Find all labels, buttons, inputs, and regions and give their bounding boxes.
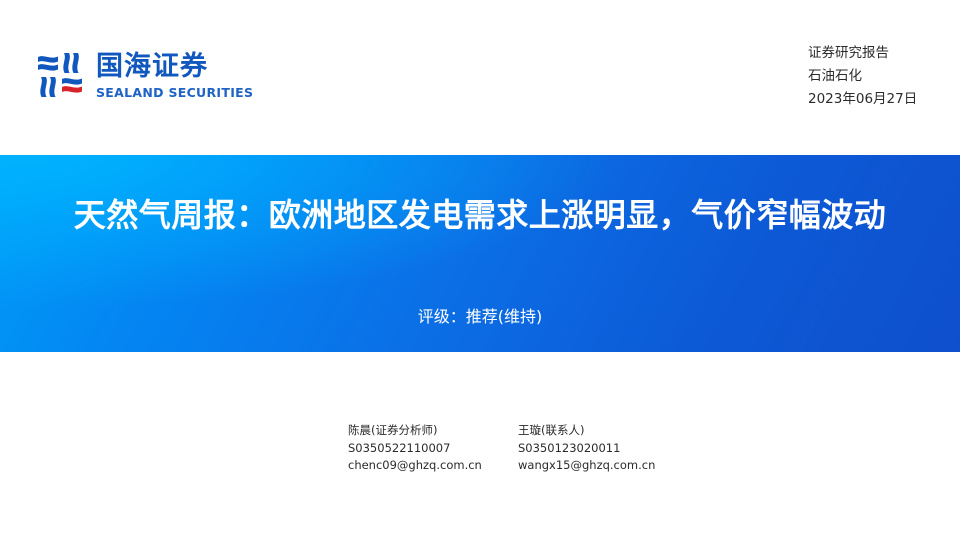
sealand-logo-mark-icon bbox=[36, 50, 86, 100]
analyst-block: 陈晨(证券分析师) S0350522110007 chenc09@ghzq.co… bbox=[348, 422, 518, 475]
header-meta-block: 证券研究报告 石油石化 2023年06月27日 bbox=[808, 42, 917, 111]
analyst-email[interactable]: chenc09@ghzq.com.cn bbox=[348, 457, 518, 475]
analyst-name: 王璇(联系人) bbox=[518, 422, 688, 440]
logo-wordmark: 国海证券 SEALAND SECURITIES bbox=[96, 50, 253, 101]
title-banner: 天然气周报：欧洲地区发电需求上涨明显，气价窄幅波动 评级：推荐(维持) bbox=[0, 155, 960, 352]
logo-english-name: SEALAND SECURITIES bbox=[96, 85, 253, 101]
analyst-email[interactable]: wangx15@ghzq.com.cn bbox=[518, 457, 688, 475]
report-title: 天然气周报：欧洲地区发电需求上涨明显，气价窄幅波动 bbox=[0, 193, 960, 237]
report-date-label: 2023年06月27日 bbox=[808, 88, 917, 111]
analyst-license: S0350522110007 bbox=[348, 440, 518, 458]
analyst-license: S0350123020011 bbox=[518, 440, 688, 458]
analyst-contacts: 陈晨(证券分析师) S0350522110007 chenc09@ghzq.co… bbox=[348, 422, 688, 475]
report-type-label: 证券研究报告 bbox=[808, 42, 917, 65]
industry-label: 石油石化 bbox=[808, 65, 917, 88]
analyst-block: 王璇(联系人) S0350123020011 wangx15@ghzq.com.… bbox=[518, 422, 688, 475]
logo-chinese-name: 国海证券 bbox=[96, 51, 253, 83]
page-header: 国海证券 SEALAND SECURITIES 证券研究报告 石油石化 2023… bbox=[0, 0, 960, 155]
company-logo: 国海证券 SEALAND SECURITIES bbox=[36, 50, 253, 101]
rating-label: 评级：推荐(维持) bbox=[0, 305, 960, 329]
analyst-name: 陈晨(证券分析师) bbox=[348, 422, 518, 440]
